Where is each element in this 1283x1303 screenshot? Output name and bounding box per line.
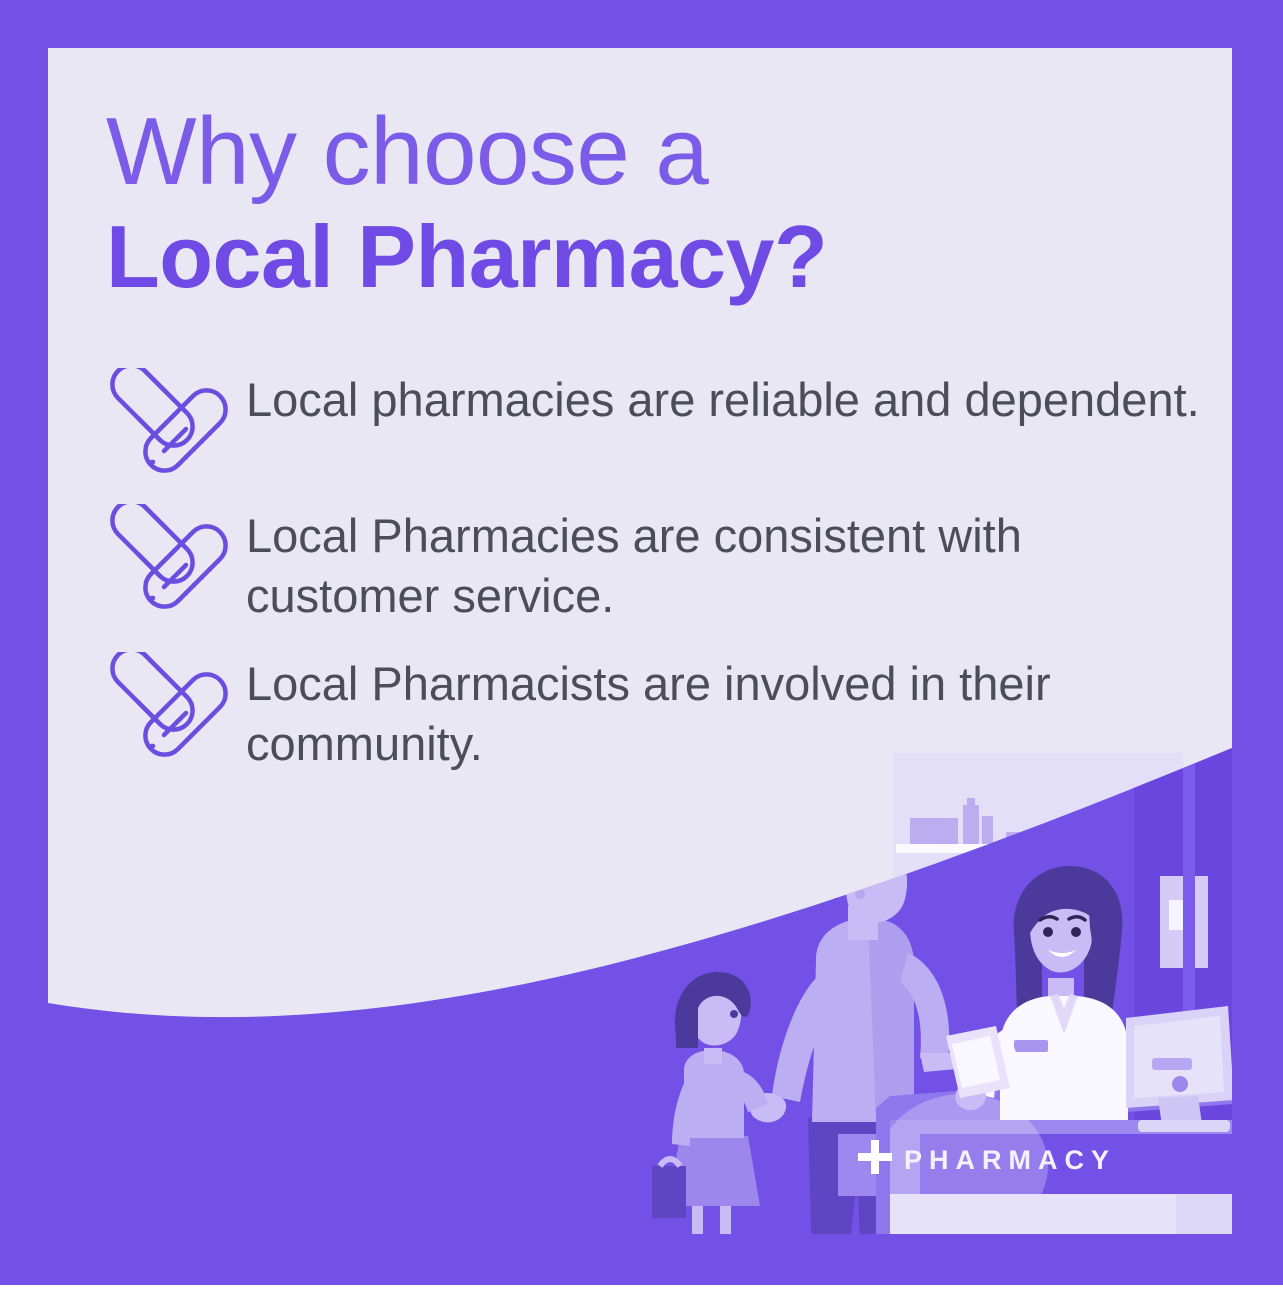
title-line-2: Local Pharmacy? (106, 209, 1106, 306)
title-line-1: Why choose a (106, 103, 1106, 201)
content-card: PHARMACY Why choose a Local Pharmacy? (48, 48, 1232, 1234)
pills-capsules-icon (106, 368, 246, 478)
pharmacy-counter (838, 1070, 1232, 1234)
child-girl (652, 972, 768, 1234)
medical-cross-icon (858, 1140, 892, 1174)
pharmacist-woman (946, 866, 1139, 1120)
list-item-label: Local pharmacies are reliable and depend… (246, 368, 1216, 430)
list-item-label: Local Pharmacists are involved in their … (246, 652, 1216, 774)
list-item: Local pharmacies are reliable and depend… (106, 368, 1216, 478)
benefits-list: Local pharmacies are reliable and depend… (106, 368, 1216, 801)
pills-capsules-icon (106, 504, 246, 614)
list-item: Local Pharmacies are consistent with cus… (106, 504, 1216, 626)
page-title: Why choose a Local Pharmacy? (106, 103, 1106, 306)
pills-capsules-icon (106, 652, 246, 762)
list-item: Local Pharmacists are involved in their … (106, 652, 1216, 774)
pharmacy-sign-text: PHARMACY (904, 1145, 1116, 1176)
infographic-poster: PHARMACY Why choose a Local Pharmacy? (0, 0, 1283, 1303)
list-item-label: Local Pharmacies are consistent with cus… (246, 504, 1216, 626)
computer-monitor (1126, 1006, 1232, 1132)
customer-man (750, 830, 971, 1234)
purple-sweep (48, 748, 1232, 1234)
bottom-white-strip (0, 1285, 1283, 1303)
